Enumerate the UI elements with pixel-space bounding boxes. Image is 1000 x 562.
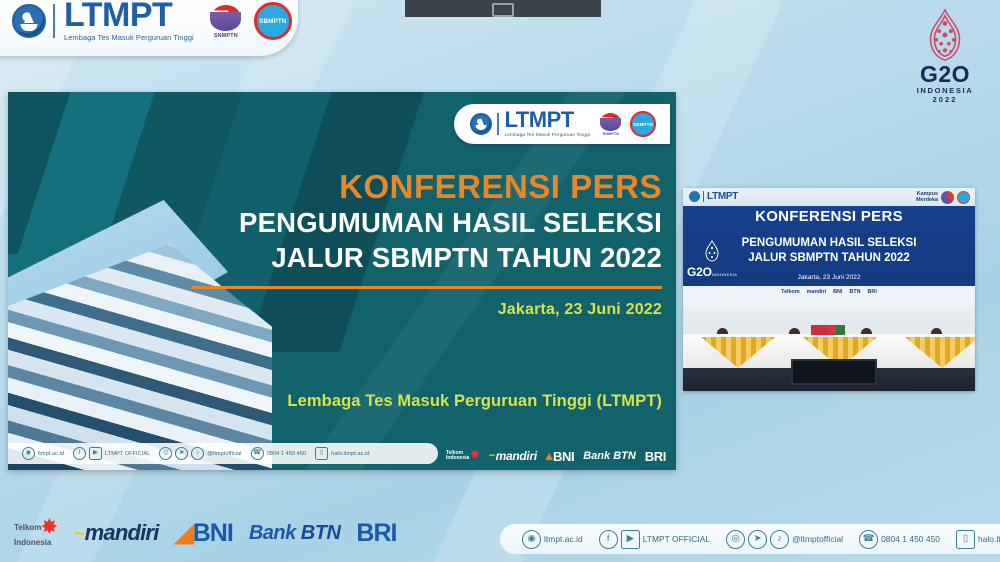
- contact-phone[interactable]: ☎ 0804 1 450 450: [251, 447, 307, 460]
- ltmpt-abbrev: LTMPT: [64, 0, 194, 31]
- slide-ltmpt-badge: LTMPT Lembaga Tes Masuk Perguruan Tinggi…: [454, 104, 670, 144]
- contact-phone-text: 0804 1 450 450: [267, 451, 307, 457]
- facebook-icon: f: [599, 530, 618, 549]
- inset-ltmpt-label: LTMPT: [707, 191, 738, 202]
- inset-sponsor-bni: BNI: [833, 289, 842, 295]
- instagram-icon: ◎: [726, 530, 745, 549]
- contact-helpdesk-text: halo.ltmpt.ac.id: [331, 451, 369, 457]
- sbmptn-logo-icon: [957, 191, 970, 204]
- contact-website[interactable]: ◉ ltmpt.ac.id: [522, 530, 583, 549]
- sbmptn-logo-icon: SBMPTN: [630, 111, 656, 137]
- top-overlay-bar: [405, 0, 601, 17]
- inset-sponsor-mandiri: mandiri: [807, 289, 826, 295]
- g20-logo: G2O INDONESIA 2022: [906, 8, 984, 104]
- facebook-icon: f: [73, 447, 86, 460]
- snmptn-logo-icon: [941, 191, 954, 204]
- inset-sponsor-btn: BTN: [849, 289, 860, 295]
- slide-text-block: KONFERENSI PERS PENGUMUMAN HASIL SELEKSI…: [192, 170, 662, 319]
- inset-kampus-merdeka-logo: KampusMerdeka: [916, 191, 970, 204]
- tut-wuri-handayani-icon: [470, 113, 492, 135]
- g20-country: INDONESIA: [917, 86, 974, 95]
- phone-icon: ☎: [251, 447, 264, 460]
- snmptn-logo-icon: SNMPTN: [206, 2, 246, 40]
- ltmpt-full-name: Lembaga Tes Masuk Perguruan Tinggi: [64, 33, 194, 42]
- sponsor-telkom-logo: Telkom✸Indonesia: [14, 518, 57, 547]
- tiktok-icon: ♪: [770, 530, 789, 549]
- contact-handle-text: @ltmptofficial: [792, 534, 843, 544]
- youtube-icon: ▶: [621, 530, 640, 549]
- contact-handle-text: @ltmptofficial: [207, 451, 241, 457]
- bottom-sponsor-row: Telkom✸Indonesia ~mandiri ◢BNI Bank BTN …: [14, 518, 396, 548]
- contact-helpdesk[interactable]: ▯ halo.ltmpt.ac.id: [315, 447, 369, 460]
- monitor-icon: ▯: [956, 530, 975, 549]
- g20-title: G2O: [920, 63, 970, 86]
- sponsor-bni-logo: ▴BNI: [546, 448, 574, 464]
- sponsor-mandiri-logo: ~mandiri: [489, 449, 537, 463]
- snmptn-label: SNMPTN: [603, 132, 619, 136]
- flower-arrangement: [811, 325, 845, 335]
- stage-monitor: [791, 359, 877, 385]
- inset-g20-country: INDONESIA: [712, 272, 738, 277]
- bottom-contact-strip: ◉ ltmpt.ac.id f ▶ LTMPT OFFICIAL ◎ ➤ ♪ @…: [500, 524, 1000, 554]
- overlay-notch-icon: [492, 3, 514, 17]
- contact-social-handle[interactable]: ◎ ➤ ♪ @ltmptofficial: [726, 530, 843, 549]
- inset-g20-title: G2O: [687, 265, 712, 279]
- slide-title-line2: JALUR SBMPTN TAHUN 2022: [192, 240, 662, 275]
- badge-divider: [53, 4, 55, 38]
- ltmpt-abbrev: LTMPT: [505, 110, 590, 130]
- ltmpt-wordmark: LTMPT Lembaga Tes Masuk Perguruan Tinggi: [64, 0, 194, 42]
- contact-phone[interactable]: ☎ 0804 1 450 450: [859, 530, 940, 549]
- monitor-icon: ▯: [315, 447, 328, 460]
- phone-icon: ☎: [859, 530, 878, 549]
- contact-website[interactable]: ◉ ltmpt.ac.id: [22, 447, 64, 460]
- inset-ltmpt-logo: LTMPT: [689, 191, 738, 202]
- slide-organizer: Lembaga Tes Masuk Perguruan Tinggi (LTMP…: [192, 392, 662, 411]
- globe-icon: ◉: [522, 530, 541, 549]
- inset-banner-eyebrow: KONFERENSI PERS: [683, 208, 975, 225]
- sponsor-mandiri-logo: ~mandiri: [73, 520, 158, 546]
- globe-icon: ◉: [22, 447, 35, 460]
- contact-social-official[interactable]: f ▶ LTMPT OFFICIAL: [599, 530, 710, 549]
- inset-g20-logo: G2OINDONESIA: [687, 240, 737, 281]
- slide-sponsor-row: TelkomIndonesia✸ ~mandiri ▴BNI Bank BTN …: [446, 448, 666, 464]
- tut-wuri-handayani-icon: [12, 4, 46, 38]
- youtube-icon: ▶: [89, 447, 102, 460]
- sponsor-btn-logo: Bank BTN: [583, 450, 636, 462]
- tiktok-icon: ♪: [191, 447, 204, 460]
- slide-divider: [192, 286, 662, 289]
- sponsor-bni-logo: ◢BNI: [175, 518, 233, 548]
- gunungan-ornament-icon: [702, 240, 722, 262]
- screen-root: LTMPT Lembaga Tes Masuk Perguruan Tinggi…: [0, 0, 1000, 562]
- contact-phone-text: 0804 1 450 450: [881, 534, 940, 544]
- ltmpt-full-name: Lembaga Tes Masuk Perguruan Tinggi: [505, 133, 590, 138]
- contact-official-text: LTMPT OFFICIAL: [643, 534, 710, 544]
- contact-helpdesk[interactable]: ▯ halo.ltmpt.ac.id: [956, 530, 1000, 549]
- presentation-slide[interactable]: LTMPT Lembaga Tes Masuk Perguruan Tinggi…: [8, 92, 676, 470]
- instagram-icon: ◎: [159, 447, 172, 460]
- ltmpt-header-badge: LTMPT Lembaga Tes Masuk Perguruan Tinggi…: [0, 0, 298, 56]
- inset-video-feed[interactable]: LTMPT KampusMerdeka KONFERENSI PERS PENG…: [683, 188, 975, 391]
- inset-sponsor-telkom: Telkom: [781, 289, 799, 295]
- slide-contact-strip: ◉ ltmpt.ac.id f ▶ LTMPT OFFICIAL ◎ ➤ ♪ @…: [8, 443, 438, 464]
- snmptn-logo-icon: SNMPTN: [598, 111, 624, 137]
- twitter-icon: ➤: [175, 447, 188, 460]
- sbmptn-logo-icon: SBMPTN: [254, 2, 292, 40]
- badge-divider: [497, 113, 499, 135]
- contact-helpdesk-text: halo.ltmpt.ac.id: [978, 534, 1000, 544]
- inset-sponsor-row: Telkom mandiri BNI BTN BRI: [683, 289, 975, 295]
- contact-social-handle[interactable]: ◎ ➤ ♪ @ltmptofficial: [159, 447, 241, 460]
- contact-social-official[interactable]: f ▶ LTMPT OFFICIAL: [73, 447, 150, 460]
- contact-official-text: LTMPT OFFICIAL: [105, 451, 150, 457]
- sponsor-bri-logo: BRI: [356, 519, 396, 548]
- inset-sponsor-bri: BRI: [868, 289, 877, 295]
- contact-website-text: ltmpt.ac.id: [544, 534, 583, 544]
- sponsor-bri-logo: BRI: [645, 449, 666, 464]
- twitter-icon: ➤: [748, 530, 767, 549]
- slide-title-line1: PENGUMUMAN HASIL SELEKSI: [192, 205, 662, 240]
- slide-eyebrow: KONFERENSI PERS: [192, 170, 662, 205]
- g20-year: 2022: [933, 95, 958, 104]
- tut-wuri-handayani-icon: [689, 191, 700, 202]
- slide-place-date: Jakarta, 23 Juni 2022: [192, 301, 662, 319]
- sponsor-btn-logo: Bank BTN: [249, 522, 341, 545]
- gunungan-ornament-icon: [918, 8, 972, 62]
- snmptn-label: SNMPTN: [214, 33, 238, 39]
- sponsor-telkom-logo: TelkomIndonesia✸: [446, 450, 480, 462]
- contact-website-text: ltmpt.ac.id: [38, 451, 64, 457]
